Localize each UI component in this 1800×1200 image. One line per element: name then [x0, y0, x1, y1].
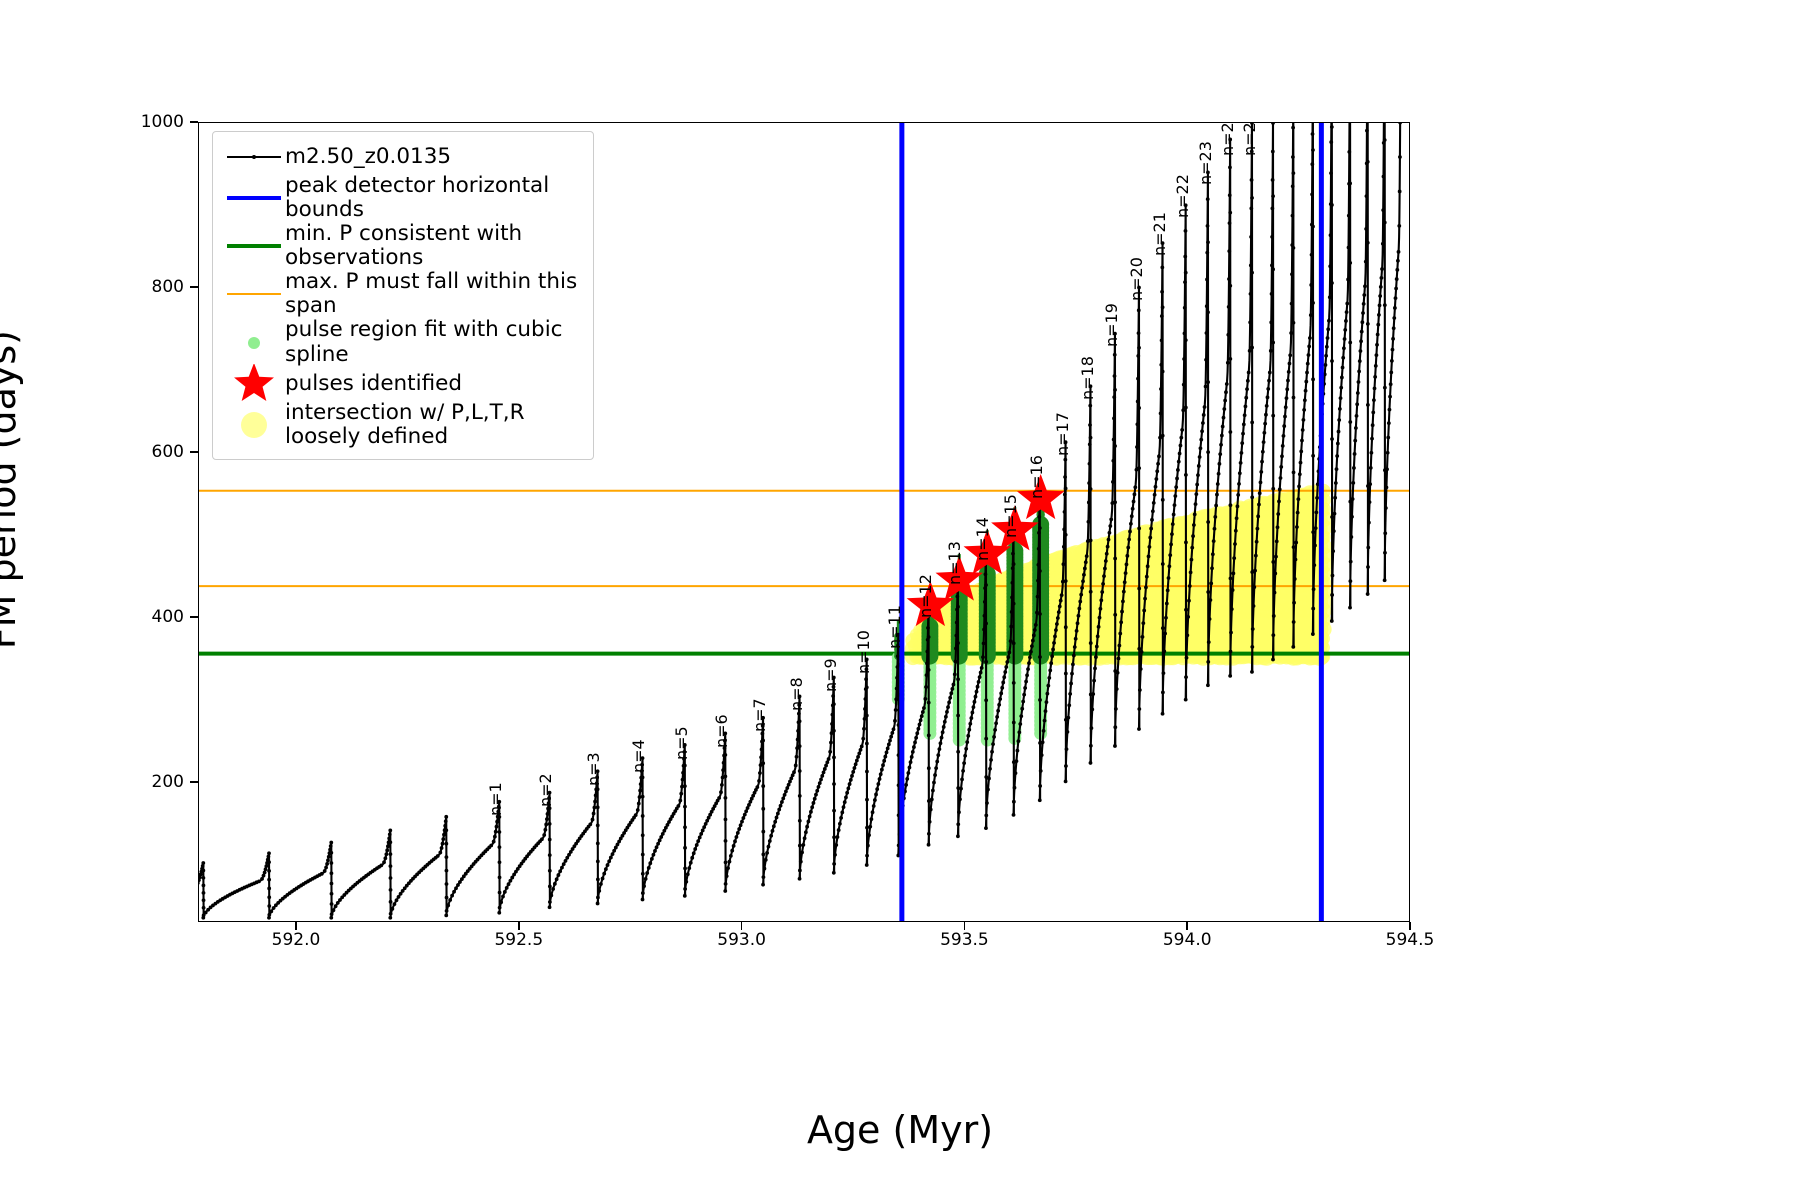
y-tick-mark [190, 121, 198, 123]
legend-line-icon [223, 279, 285, 309]
pulse-number-label: n=11 [885, 605, 904, 649]
legend-line-icon [223, 183, 285, 213]
x-tick-label: 593.0 [717, 930, 766, 950]
y-tick-label: 1000 [141, 112, 184, 132]
pulse-number-label: n=15 [1001, 495, 1020, 539]
x-tick-label: 592.5 [494, 930, 543, 950]
legend-item-label: max. P must fall within this span [285, 270, 583, 318]
legend-dot-swatch [248, 337, 260, 349]
y-tick-mark [190, 616, 198, 618]
legend-line-swatch [227, 244, 281, 248]
y-tick-label: 400 [152, 607, 184, 627]
legend-star-icon [223, 369, 285, 399]
pulse-number-label: n=24 [1218, 122, 1237, 156]
x-tick-label: 594.5 [1386, 930, 1435, 950]
y-tick-label: 800 [152, 277, 184, 297]
legend-item-label: m2.50_z0.0135 [285, 145, 451, 169]
pulse-number-label: n=20 [1127, 257, 1146, 301]
legend-marker-dot-icon [252, 155, 256, 159]
pulse-number-label: n=21 [1150, 213, 1169, 257]
legend-dot-icon [223, 328, 285, 358]
legend-star-swatch [230, 364, 278, 404]
x-tick-mark [741, 922, 743, 930]
pulse-number-label: n=2 [536, 774, 555, 808]
pulse-number-label: n=4 [629, 739, 648, 773]
pulse-number-label: n=14 [973, 517, 992, 561]
pulse-number-label: n=7 [750, 699, 769, 733]
y-axis-label: FM period (days) [0, 330, 24, 649]
legend-item: max. P must fall within this span [223, 270, 583, 318]
pulse-number-label: n=13 [945, 541, 964, 585]
x-tick-mark [964, 922, 966, 930]
legend-line-swatch [227, 293, 281, 295]
legend-item: peak detector horizontal bounds [223, 174, 583, 222]
y-tick-mark [190, 451, 198, 453]
legend-item-label: min. P consistent with observations [285, 222, 583, 270]
pulse-number-label: n=5 [672, 726, 691, 760]
figure-canvas: FM period (days) 2004006008001000 592.05… [0, 0, 1800, 1200]
pulse-number-label: n=19 [1102, 303, 1121, 347]
legend: m2.50_z0.0135peak detector horizontal bo… [212, 131, 594, 460]
legend-item: pulse region fit with cubic spline [223, 318, 583, 366]
pulse-number-label: n=6 [712, 714, 731, 748]
legend-item-label: intersection w/ P,L,T,R loosely defined [285, 401, 525, 449]
pulse-number-label: n=9 [821, 658, 840, 692]
x-tick-mark [295, 922, 297, 930]
legend-line-icon [223, 231, 285, 261]
legend-line-swatch [227, 196, 281, 200]
y-tick-label: 600 [152, 442, 184, 462]
y-tick-mark [190, 286, 198, 288]
pulse-number-label: n=18 [1078, 356, 1097, 400]
legend-dot-swatch [241, 412, 267, 438]
legend-item: m2.50_z0.0135 [223, 140, 583, 174]
x-tick-mark [518, 922, 520, 930]
pulse-number-label: n=3 [584, 752, 603, 786]
pulse-number-label: n=10 [854, 630, 873, 674]
x-tick-label: 593.5 [940, 930, 989, 950]
legend-item: min. P consistent with observations [223, 222, 583, 270]
legend-line-icon [223, 142, 285, 172]
x-tick-label: 594.0 [1163, 930, 1212, 950]
pulse-number-label: n=22 [1173, 175, 1192, 219]
legend-item: pulses identified [223, 367, 583, 401]
pulse-number-label: n=23 [1196, 142, 1215, 186]
y-tick-mark [190, 781, 198, 783]
x-tick-mark [1409, 922, 1411, 930]
pulse-number-label: n=17 [1053, 412, 1072, 456]
x-tick-mark [1186, 922, 1188, 930]
y-tick-label: 200 [152, 772, 184, 792]
x-tick-label: 592.0 [272, 930, 321, 950]
legend-item-label: pulses identified [285, 372, 462, 396]
pulse-number-label: n=12 [916, 575, 935, 619]
x-axis-label: Age (Myr) [0, 1108, 1800, 1152]
legend-item-label: peak detector horizontal bounds [285, 174, 583, 222]
legend-dot-icon [223, 410, 285, 440]
legend-item-label: pulse region fit with cubic spline [285, 318, 583, 366]
pulse-number-label: n=25 [1240, 122, 1259, 156]
pulse-number-label: n=1 [486, 783, 505, 817]
legend-item: intersection w/ P,L,T,R loosely defined [223, 401, 583, 449]
pulse-number-label: n=16 [1027, 455, 1046, 499]
pulse-number-label: n=8 [787, 677, 806, 711]
